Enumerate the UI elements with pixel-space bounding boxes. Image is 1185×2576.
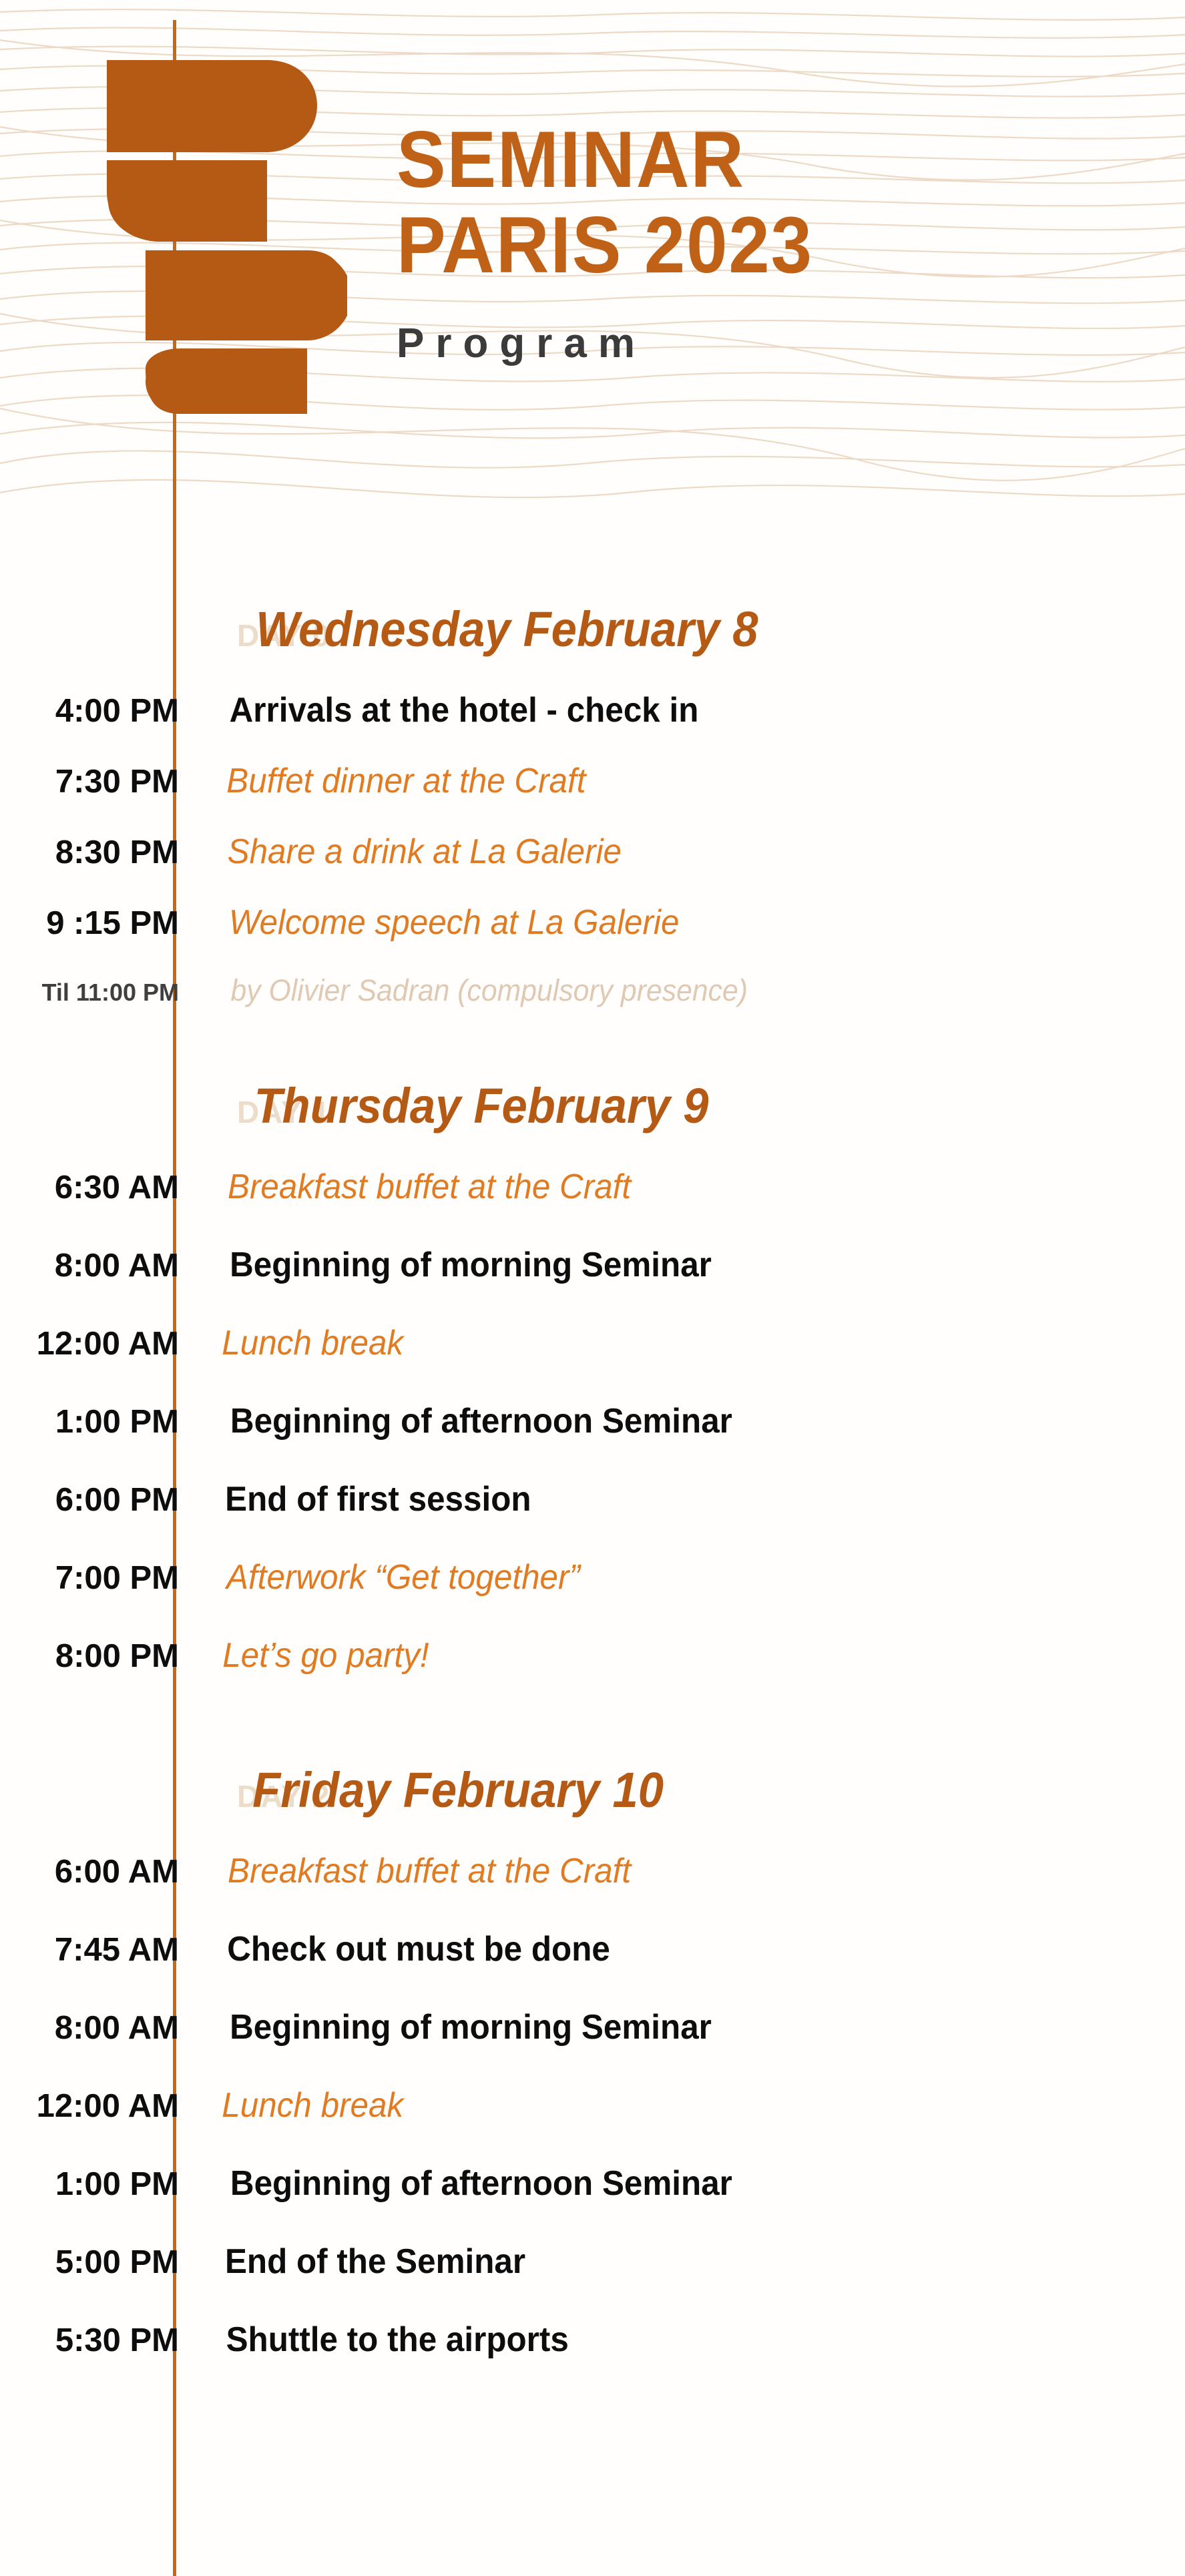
day-block: DAY 1Thursday February 96:30 AMBreakfast… xyxy=(0,1077,1185,1714)
schedule-row: 8:00 AMBeginning of morning Seminar xyxy=(0,2007,1185,2085)
schedule-row: 5:30 PMShuttle to the airports xyxy=(0,2320,1185,2398)
schedule-row: 8:30 PMShare a drink at La Galerie xyxy=(0,832,1185,903)
day-number-label: DAY 2 xyxy=(0,1778,237,1814)
schedule-row: 8:00 PMLet’s go party! xyxy=(0,1635,1185,1714)
schedule-row: 7:45 AMCheck out must be done xyxy=(0,1929,1185,2007)
schedule-row-time: 5:30 PM xyxy=(0,2322,194,2359)
day-header: DAY 1Thursday February 9 xyxy=(0,1077,1185,1157)
schedule-row-time: 5:00 PM xyxy=(0,2244,194,2281)
day-header: DAY 0Wednesday February 8 xyxy=(0,601,1185,681)
schedule-row-label: Beginning of morning Seminar xyxy=(207,1245,712,1285)
schedule-row-label: Breakfast buffet at the Craft xyxy=(205,1167,631,1207)
schedule-row: 1:00 PMBeginning of afternoon Seminar xyxy=(0,2163,1185,2242)
poster-header: SEMINAR PARIS 2023 Program xyxy=(397,117,1144,367)
page-subtitle: Program xyxy=(397,320,1144,367)
day-header: DAY 2Friday February 10 xyxy=(0,1762,1185,1842)
schedule-row-time: 12:00 AM xyxy=(0,2087,194,2125)
schedule-row-label: Share a drink at La Galerie xyxy=(204,832,622,872)
schedule-row-time: 6:30 AM xyxy=(0,1169,194,1206)
schedule-row: 6:00 AMBreakfast buffet at the Craft xyxy=(0,1851,1185,1929)
day-block: DAY 2Friday February 106:00 AMBreakfast … xyxy=(0,1762,1185,2398)
schedule-row: 8:00 AMBeginning of morning Seminar xyxy=(0,1245,1185,1323)
schedule-row-label: Lunch break xyxy=(199,1323,403,1363)
schedule-row-time: 8:00 PM xyxy=(0,1637,194,1675)
schedule-row-label: Check out must be done xyxy=(204,1929,610,1969)
schedule-row: 6:30 AMBreakfast buffet at the Craft xyxy=(0,1167,1185,1245)
schedule-row: 1:00 PMBeginning of afternoon Seminar xyxy=(0,1401,1185,1479)
schedule-row-time: 7:30 PM xyxy=(0,763,194,800)
day-block: DAY 0Wednesday February 84:00 PMArrivals… xyxy=(0,601,1185,1044)
schedule-row-time: 9 :15 PM xyxy=(0,905,194,942)
schedule-row: 12:00 AMLunch break xyxy=(0,1323,1185,1401)
schedule-row-label: Beginning of afternoon Seminar xyxy=(208,2163,732,2204)
schedule-row: 5:00 PMEnd of the Seminar xyxy=(0,2242,1185,2320)
schedule-row-time: 8:00 AM xyxy=(0,2009,194,2047)
schedule-row-time: 8:30 PM xyxy=(0,834,194,871)
day-number-label: DAY 0 xyxy=(0,617,237,654)
day-date-title: Friday February 10 xyxy=(252,1762,664,1818)
page-title-line2: PARIS 2023 xyxy=(397,202,1084,288)
schedule-row-time: 6:00 AM xyxy=(0,1853,194,1890)
program-schedule: DAY 0Wednesday February 84:00 PMArrivals… xyxy=(0,601,1185,2403)
schedule-row-label: End of first session xyxy=(202,1479,531,1519)
schedule-row-time: 6:00 PM xyxy=(0,1481,194,1519)
day-rows: 4:00 PMArrivals at the hotel - check in7… xyxy=(0,690,1185,1044)
schedule-row-label: Welcome speech at La Galerie xyxy=(206,903,680,943)
schedule-row-label: End of the Seminar xyxy=(202,2242,525,2282)
schedule-row-time: 1:00 PM xyxy=(0,2165,194,2203)
schedule-row-label: Afterwork “Get together” xyxy=(204,1557,580,1597)
schedule-row: 4:00 PMArrivals at the hotel - check in xyxy=(0,690,1185,761)
schedule-row-label: Beginning of morning Seminar xyxy=(207,2007,712,2047)
schedule-row: 12:00 AM Lunch break xyxy=(0,2085,1185,2163)
schedule-row-label: Breakfast buffet at the Craft xyxy=(205,1851,631,1891)
schedule-row-label: Let’s go party! xyxy=(200,1635,429,1676)
schedule-row-label: Buffet dinner at the Craft xyxy=(204,761,585,801)
schedule-row-label: Beginning of afternoon Seminar xyxy=(208,1401,732,1441)
schedule-row-time: 12:00 AM xyxy=(0,1325,194,1362)
schedule-row-label: Lunch break xyxy=(199,2085,403,2125)
schedule-row: 7:30 PMBuffet dinner at the Craft xyxy=(0,761,1185,832)
schedule-row-time: 1:00 PM xyxy=(0,1403,194,1441)
ribbon-s-logo xyxy=(67,60,347,414)
schedule-row-label: Shuttle to the airports xyxy=(203,2320,568,2360)
schedule-row-time: 7:00 PM xyxy=(0,1559,194,1597)
page-title-line1: SEMINAR xyxy=(397,117,1084,202)
schedule-row-time: 7:45 AM xyxy=(0,1931,194,1969)
day-rows: 6:00 AMBreakfast buffet at the Craft7:45… xyxy=(0,1851,1185,2398)
schedule-row-label: Arrivals at the hotel - check in xyxy=(206,690,698,730)
day-date-title: Wednesday February 8 xyxy=(256,601,758,658)
day-rows: 6:30 AMBreakfast buffet at the Craft8:00… xyxy=(0,1167,1185,1714)
schedule-row-time: Til 11:00 PM xyxy=(0,979,194,1007)
day-date-title: Thursday February 9 xyxy=(254,1077,709,1134)
schedule-row: 6:00 PMEnd of first session xyxy=(0,1479,1185,1557)
seminar-program-poster: SEMINAR PARIS 2023 Program DAY 0Wednesda… xyxy=(0,0,1185,2576)
schedule-row-time: 8:00 AM xyxy=(0,1247,194,1284)
schedule-row: 9 :15 PMWelcome speech at La Galerie xyxy=(0,903,1185,973)
schedule-row-label: by Olivier Sadran (compulsory presence) xyxy=(208,973,748,1008)
schedule-row: 7:00 PMAfterwork “Get together” xyxy=(0,1557,1185,1635)
schedule-row: Til 11:00 PMby Olivier Sadran (compulsor… xyxy=(0,973,1185,1044)
day-number-label: DAY 1 xyxy=(0,1094,237,1130)
schedule-row-time: 4:00 PM xyxy=(0,692,194,730)
